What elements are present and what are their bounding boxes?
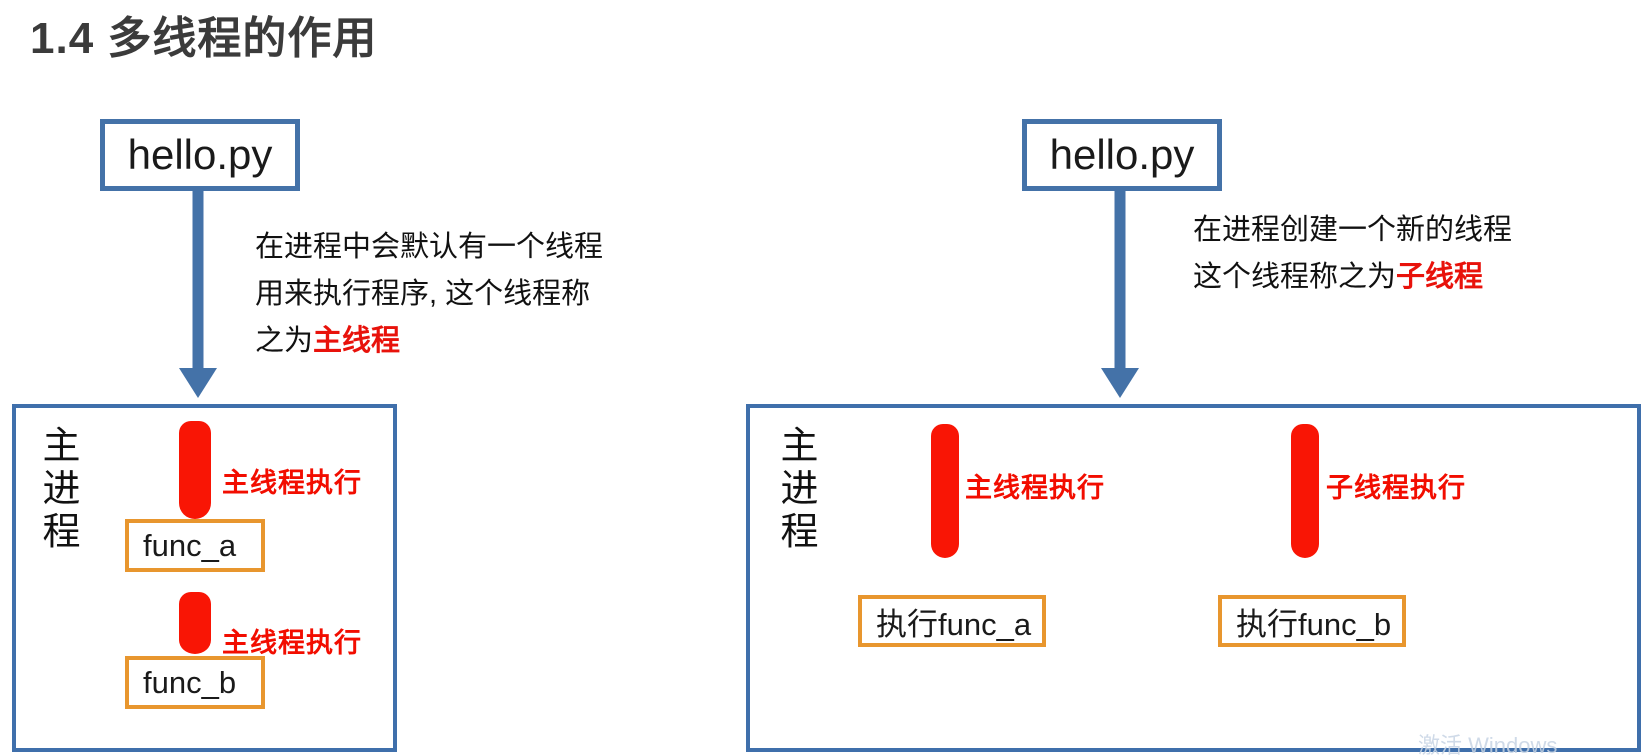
right-annotation: 在进程创建一个新的线程 这个线程称之为子线程	[1193, 207, 1512, 301]
right-func-box-2: 执行func_b	[1218, 595, 1406, 647]
left-flow-arrow-icon	[175, 191, 221, 398]
left-thread-label-1: 主线程执行	[222, 461, 362, 500]
right-func-box-2-label: 执行func_b	[1236, 599, 1391, 644]
arrow-tip	[179, 487, 211, 519]
right-flow-arrow-icon	[1097, 191, 1143, 398]
right-annotation-prefix: 这个线程称之为	[1193, 261, 1396, 293]
windows-activation-watermark: 激活 Windows	[1418, 728, 1557, 756]
arrow-shaft	[1115, 191, 1126, 369]
left-thread-label-2: 主线程执行	[222, 621, 362, 660]
right-func-box-1-label: 执行func_a	[876, 599, 1031, 644]
left-thread-arrow-2-icon	[179, 592, 211, 654]
right-thread-arrow-1-icon	[931, 424, 959, 558]
page-title: 1.4 多线程的作用	[30, 2, 377, 66]
slide-canvas: 1.4 多线程的作用 hello.py 在进程中会默认有一个线程 用来执行程序,…	[0, 0, 1648, 756]
left-annotation-line-1: 在进程中会默认有一个线程	[255, 224, 603, 271]
arrow-head	[1101, 368, 1139, 398]
arrow-bar	[179, 421, 211, 493]
left-func-box-2-label: func_b	[143, 665, 236, 701]
right-process-box	[746, 404, 1641, 752]
left-process-label: 主进程	[32, 425, 82, 554]
arrow-tip	[931, 530, 959, 558]
right-thread-arrow-2-icon	[1291, 424, 1319, 558]
right-thread-label-1: 主线程执行	[965, 466, 1105, 505]
left-thread-arrow-1-icon	[179, 421, 211, 519]
right-annotation-highlight: 子线程	[1396, 261, 1483, 293]
arrow-head	[179, 368, 217, 398]
left-func-box-2: func_b	[125, 656, 265, 709]
arrow-bar	[1291, 424, 1319, 534]
right-func-box-1: 执行func_a	[858, 595, 1046, 647]
right-process-label: 主进程	[770, 425, 820, 554]
arrow-bar	[931, 424, 959, 534]
left-annotation-line-3: 之为主线程	[255, 318, 603, 365]
left-file-box: hello.py	[100, 119, 300, 191]
right-file-box: hello.py	[1022, 119, 1222, 191]
arrow-shaft	[193, 191, 204, 369]
arrow-tip	[1291, 530, 1319, 558]
left-file-box-label: hello.py	[128, 131, 273, 179]
left-func-box-1-label: func_a	[143, 528, 236, 564]
right-annotation-line-1: 在进程创建一个新的线程	[1193, 207, 1512, 254]
left-annotation-line-2: 用来执行程序, 这个线程称	[255, 271, 603, 318]
right-file-box-label: hello.py	[1050, 131, 1195, 179]
left-annotation-highlight: 主线程	[313, 325, 400, 357]
left-annotation: 在进程中会默认有一个线程 用来执行程序, 这个线程称 之为主线程	[255, 224, 603, 365]
left-annotation-prefix: 之为	[255, 325, 313, 357]
right-thread-label-2: 子线程执行	[1326, 466, 1466, 505]
left-func-box-1: func_a	[125, 519, 265, 572]
arrow-tip	[179, 626, 211, 654]
right-annotation-line-2: 这个线程称之为子线程	[1193, 254, 1512, 301]
